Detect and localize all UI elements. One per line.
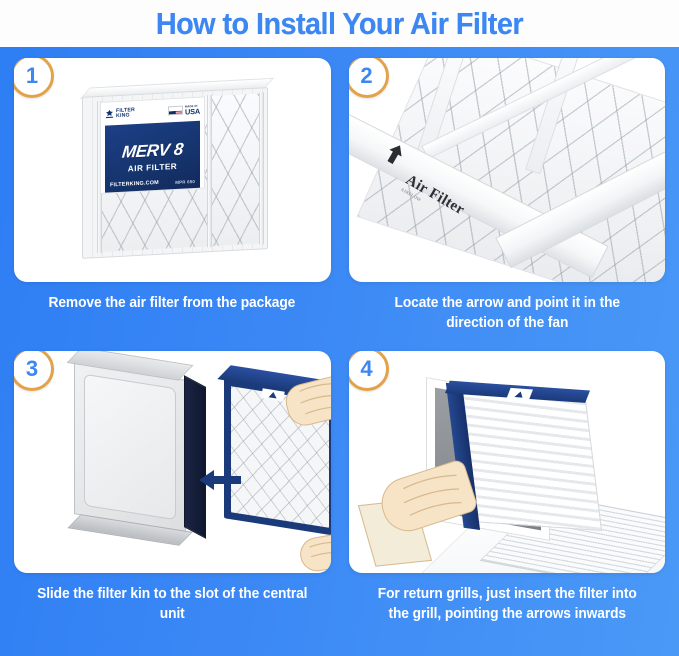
unit-front-panel <box>74 362 186 532</box>
us-flag-icon <box>168 106 183 116</box>
hand-bottom <box>298 530 331 573</box>
step-1: FILTER KING <box>14 58 331 351</box>
step-1-card: FILTER KING <box>14 58 331 282</box>
unit-inner-border <box>84 374 176 521</box>
step-4-caption-text: For return grills, just insert the filte… <box>370 585 644 624</box>
label-navy-panel: MERV 8 AIR FILTER FILTERKING.COM MPR 650 <box>105 121 200 193</box>
arrow-glyph <box>514 391 524 397</box>
brand-line-2: KING <box>116 113 135 119</box>
step-2: Air Filter AIRFLOW 2 Locate the arrow an… <box>349 58 666 351</box>
label-header-row: FILTER KING <box>105 102 200 123</box>
arrow-glyph <box>269 391 278 398</box>
step-4-caption: For return grills, just insert the filte… <box>349 573 666 652</box>
made-in-usa-text: MADE IN USA <box>185 105 200 116</box>
air-filter-corner-photo: Air Filter AIRFLOW <box>349 58 666 282</box>
mpr-rating: MPR 650 <box>175 178 195 184</box>
made-in-usa-mark: MADE IN USA <box>168 105 200 117</box>
step-4: 4 For return grills, just insert the fil… <box>349 351 666 652</box>
brand-website: FILTERKING.COM <box>110 180 159 189</box>
step-1-caption: Remove the air filter from the package <box>14 282 331 351</box>
merv-rating: MERV 8 <box>121 140 184 163</box>
insert-direction-arrow-icon <box>199 469 241 491</box>
filter-type: AIR FILTER <box>128 162 177 174</box>
step-number-3: 3 <box>26 358 38 380</box>
hand-finger-lines <box>376 459 478 537</box>
unit-slot-opening <box>184 375 206 539</box>
step-3: 3 Slide the filter kin to the slot of th… <box>14 351 331 652</box>
step-3-card: 3 <box>14 351 331 573</box>
header: How to Install Your Air Filter <box>0 0 679 47</box>
step-4-illustration <box>349 351 666 573</box>
country-label: USA <box>185 107 200 115</box>
step-number-2: 2 <box>360 65 372 87</box>
step-3-caption: Slide the filter kin to the slot of the … <box>14 573 331 652</box>
step-1-illustration: FILTER KING <box>14 58 331 282</box>
filter-product-label: FILTER KING <box>100 96 205 194</box>
step-3-illustration <box>14 351 331 573</box>
step-number-1: 1 <box>26 65 38 87</box>
filter-rib <box>259 92 264 244</box>
hand-finger-lines <box>299 531 331 573</box>
central-unit-housing <box>74 362 186 532</box>
filter-rib <box>207 95 212 247</box>
merv8-filter-product: FILTER KING <box>82 87 268 259</box>
filter-in-hand <box>455 391 601 531</box>
step-4-card: 4 <box>349 351 666 573</box>
step-number-4: 4 <box>360 358 372 380</box>
step-1-caption-text: Remove the air filter from the package <box>49 294 296 314</box>
step-2-caption-text: Locate the arrow and point it in the dir… <box>370 294 644 333</box>
brand-wordmark: FILTER KING <box>116 108 135 119</box>
label-footer-row: FILTERKING.COM MPR 650 <box>110 178 195 188</box>
step-2-card: Air Filter AIRFLOW 2 <box>349 58 666 282</box>
arrow-direction-tag <box>506 388 532 400</box>
step-2-illustration: Air Filter AIRFLOW <box>349 58 666 282</box>
filter-king-logo: FILTER KING <box>105 108 135 120</box>
page-title: How to Install Your Air Filter <box>156 6 523 42</box>
steps-grid: FILTER KING <box>0 47 679 656</box>
step-3-caption-text: Slide the filter kin to the slot of the … <box>35 585 309 624</box>
infographic-poster: How to Install Your Air Filter <box>0 0 679 656</box>
step-2-caption: Locate the arrow and point it in the dir… <box>349 282 666 351</box>
crown-lion-icon <box>105 109 114 119</box>
